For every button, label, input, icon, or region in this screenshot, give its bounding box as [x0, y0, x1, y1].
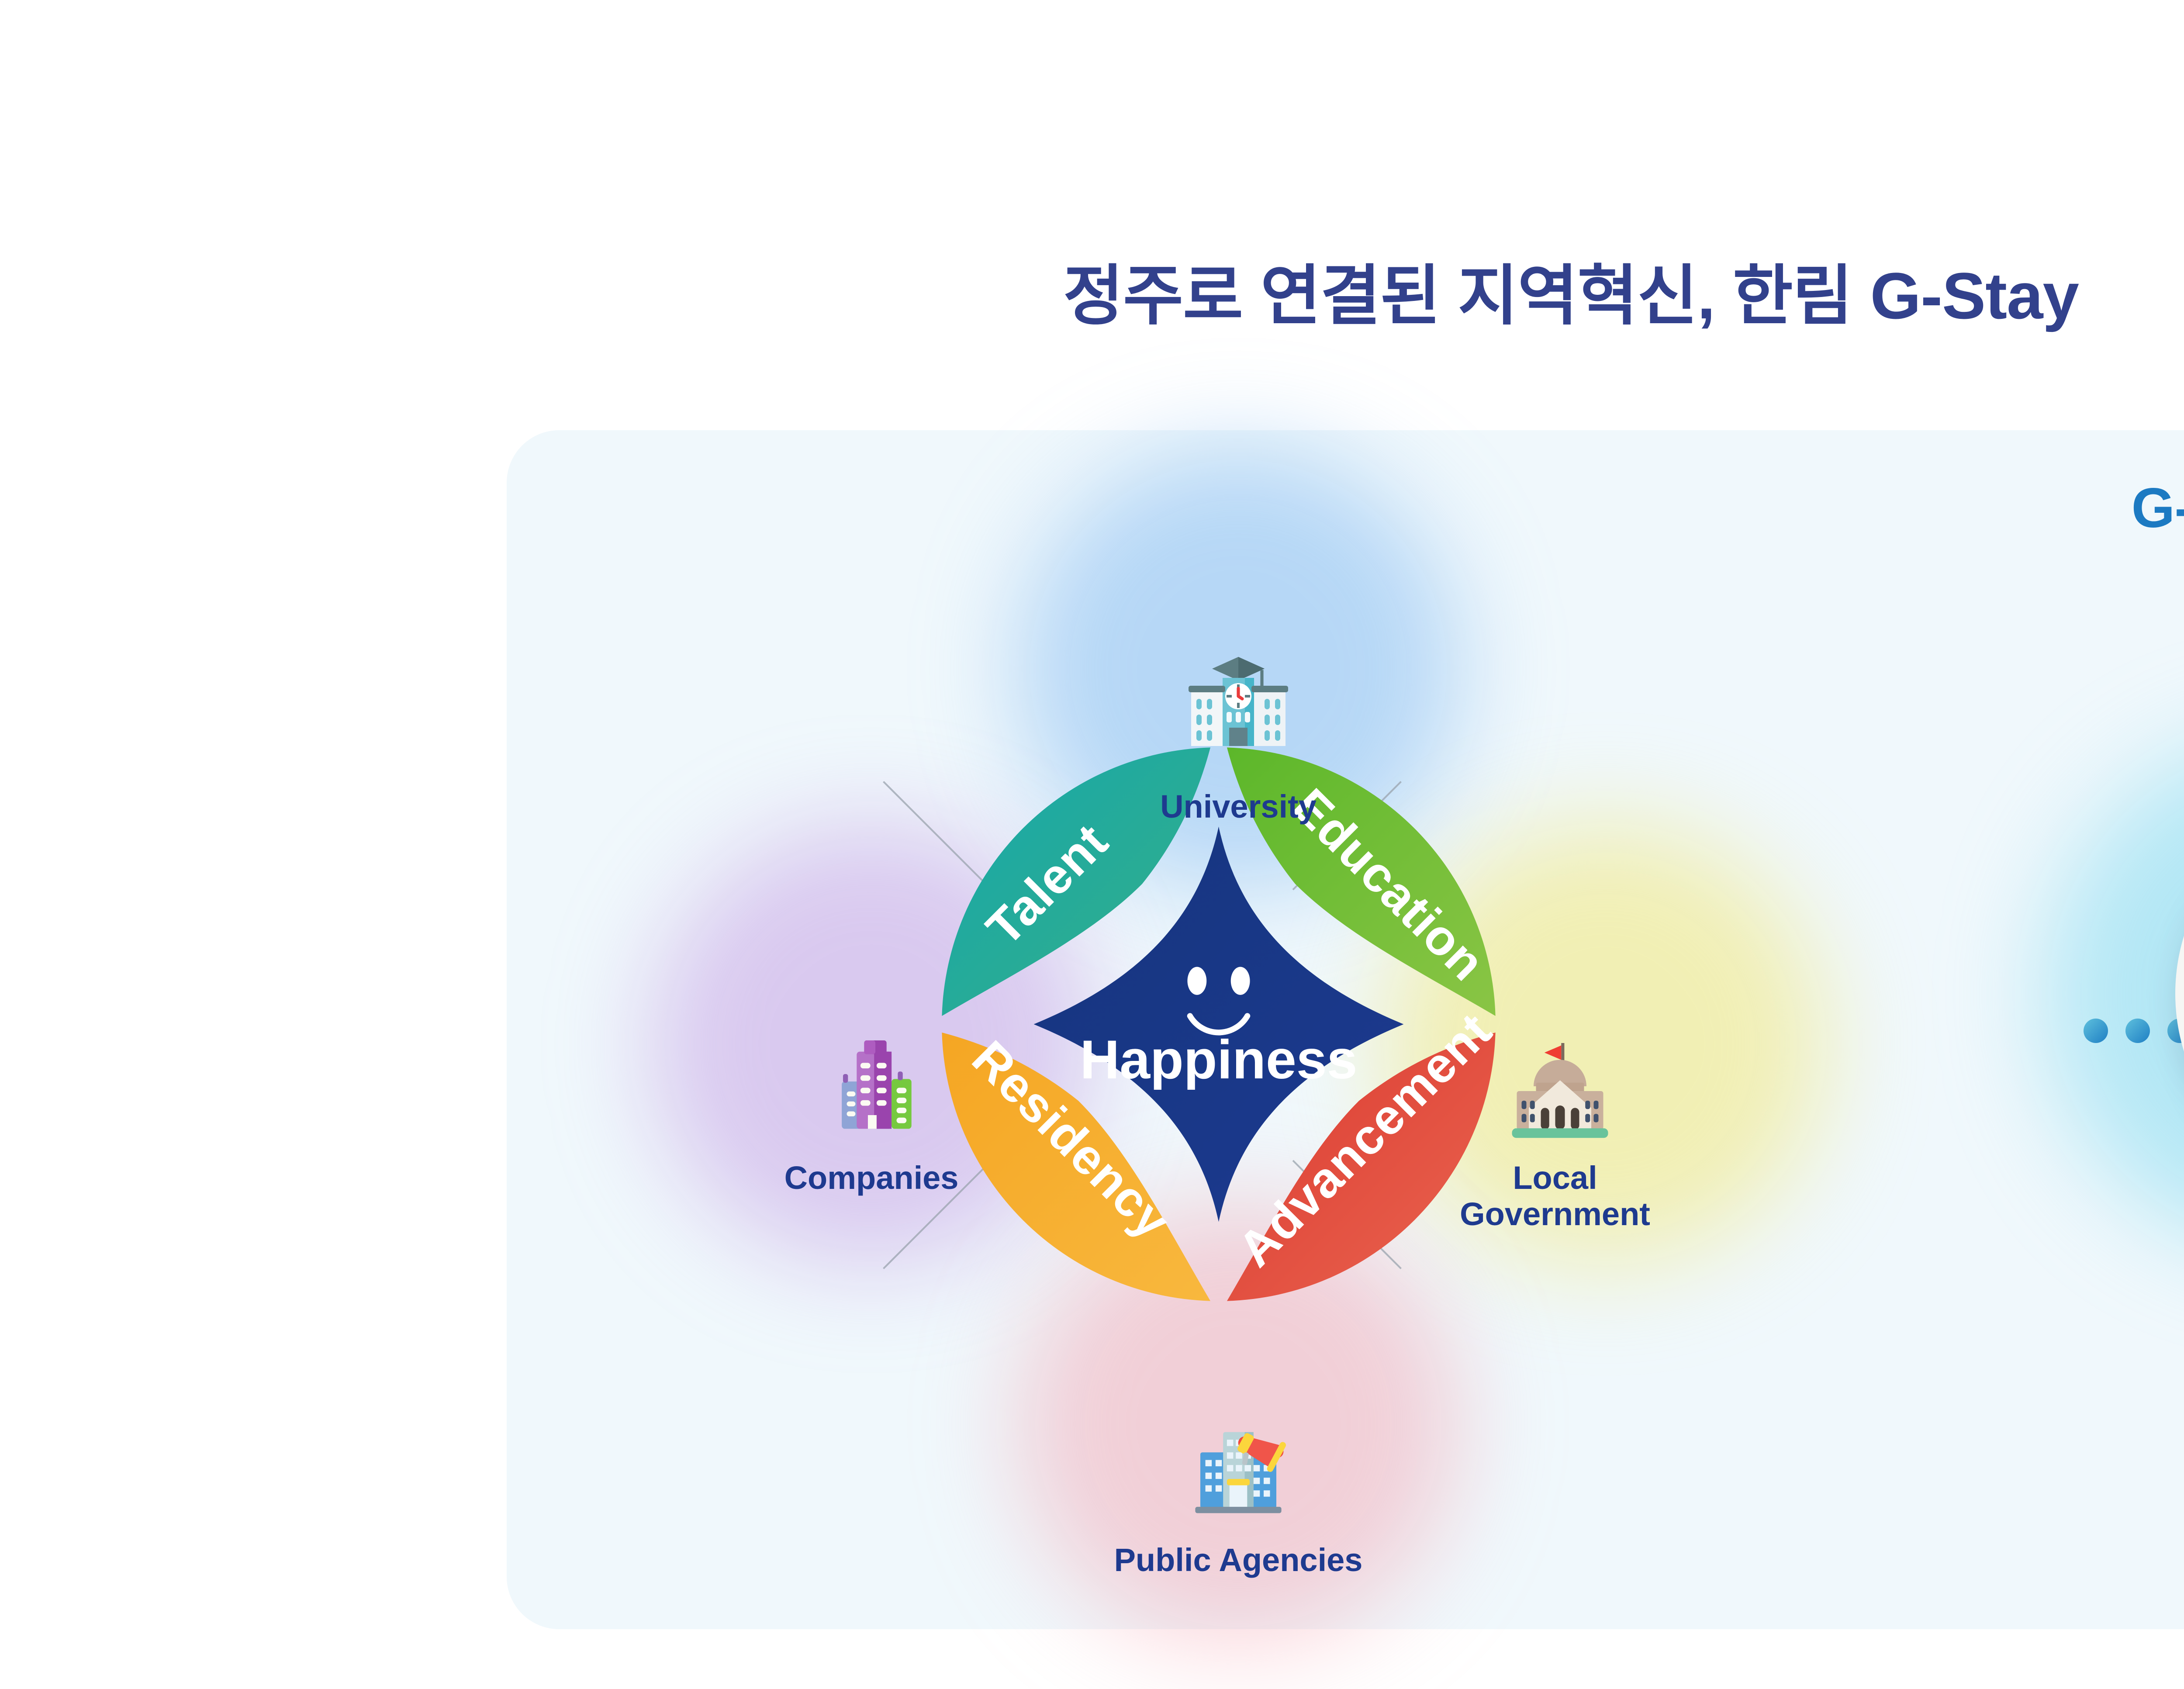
node-label-local-line1: Local — [1513, 1160, 1597, 1196]
megaphone-buildings-icon — [1072, 1387, 1404, 1531]
office-buildings-icon — [705, 1005, 1037, 1149]
university-building-icon — [1072, 633, 1404, 777]
node-label-local-government: Local Government — [1389, 1160, 1721, 1233]
node-university[interactable]: University — [1072, 633, 1404, 825]
g-logo-icon[interactable] — [2175, 797, 2184, 1190]
diagram-card: G-HEART Model — [507, 430, 2184, 1629]
node-companies[interactable]: Companies — [705, 1005, 1037, 1196]
model-title: G-HEART Model — [2132, 476, 2184, 540]
connector-dot — [2125, 1019, 2150, 1043]
page-title: 정주로 연결된 지역혁신, 한림 G-Stay — [0, 260, 2184, 332]
node-label-public-agencies: Public Agencies — [1072, 1542, 1404, 1578]
node-label-university: University — [1072, 789, 1404, 825]
node-label-local-line2: Government — [1460, 1196, 1650, 1232]
node-label-companies: Companies — [705, 1160, 1037, 1196]
happiness-label: Happiness — [1080, 1029, 1358, 1090]
halo-g-logo — [2044, 736, 2184, 1251]
node-local-government[interactable]: Local Government — [1389, 1005, 1721, 1233]
connector-dot — [2084, 1019, 2108, 1043]
government-capitol-icon — [1389, 1005, 1721, 1149]
node-public-agencies[interactable]: Public Agencies — [1072, 1387, 1404, 1578]
dotted-connector-icon — [2084, 1013, 2184, 1048]
